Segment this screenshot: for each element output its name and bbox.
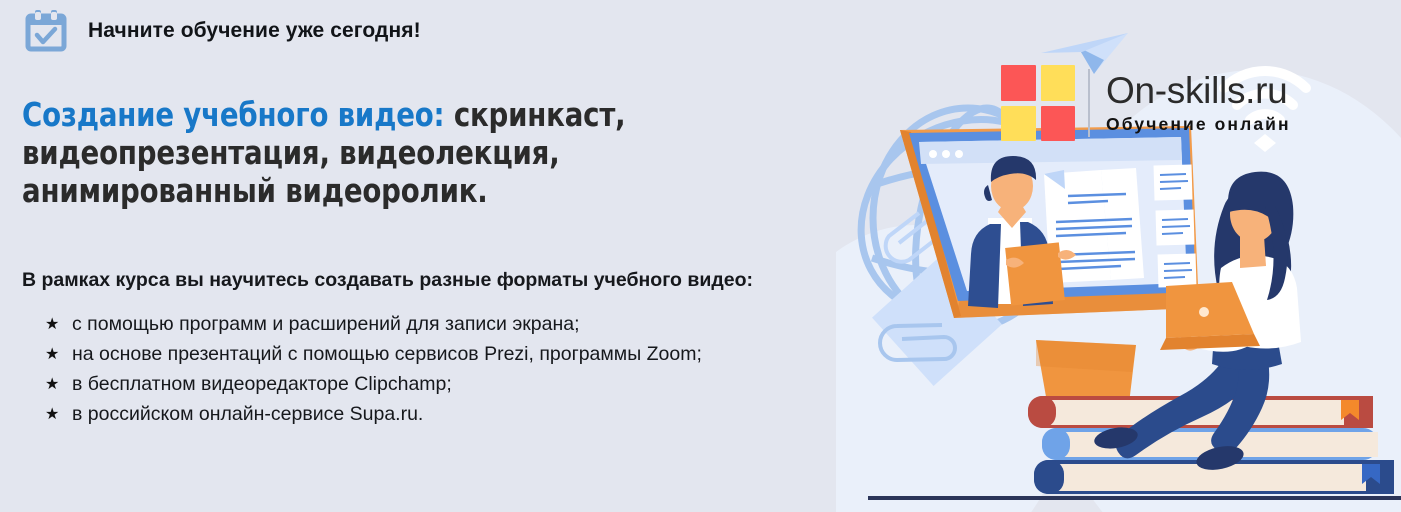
list-item: ★ на основе презентаций с помощью сервис… [45,340,835,369]
logo-square-bottom-left [1001,106,1036,142]
list-item-label: в российском онлайн-сервисе Supa.ru. [72,400,835,429]
logo-text-block: On-skills.ru Обучение онлайн [1106,71,1291,135]
lead-paragraph: В рамках курса вы научитесь создавать ра… [22,265,782,296]
logo-subtitle: Обучение онлайн [1106,113,1291,135]
list-item: ★ в бесплатном видеоредакторе Clipchamp; [45,370,835,399]
promo-banner: Начните обучение уже сегодня! Создание у… [0,0,1401,512]
page-title-highlight: Создание учебного видео: [22,95,444,134]
browser-dot [929,150,937,158]
browser-dot [942,150,950,158]
logo-squares-icon [1001,65,1075,141]
logo-square-top-right [1041,65,1076,101]
list-item: ★ с помощью программ и расширений для за… [45,310,835,339]
logo-divider [1088,69,1090,137]
star-bullet-icon: ★ [45,400,59,429]
page-title: Создание учебного видео: скринкаст, виде… [22,96,766,210]
star-bullet-icon: ★ [45,340,59,369]
document-side-cards [1154,164,1197,287]
logo-square-top-left [1001,65,1036,101]
orange-folder [1005,242,1065,305]
calendar-check-icon [22,8,70,53]
star-bullet-icon: ★ [45,310,59,339]
list-item-label: в бесплатном видеоредакторе Clipchamp; [72,370,835,399]
start-today-label: Начните обучение уже сегодня! [88,19,421,43]
list-item: ★ в российском онлайн-сервисе Supa.ru. [45,400,835,429]
formats-list: ★ с помощью программ и расширений для за… [45,310,835,430]
baseline-rule [868,496,1401,500]
star-bullet-icon: ★ [45,370,59,399]
browser-dot [955,150,963,158]
list-item-label: с помощью программ и расширений для запи… [72,310,835,339]
start-today-row: Начните обучение уже сегодня! [22,8,421,53]
logo-title: On-skills.ru [1106,71,1291,111]
list-item-label: на основе презентаций с помощью сервисов… [72,340,835,369]
logo-square-bottom-right [1041,106,1076,142]
site-logo[interactable]: On-skills.ru Обучение онлайн [1001,65,1291,141]
